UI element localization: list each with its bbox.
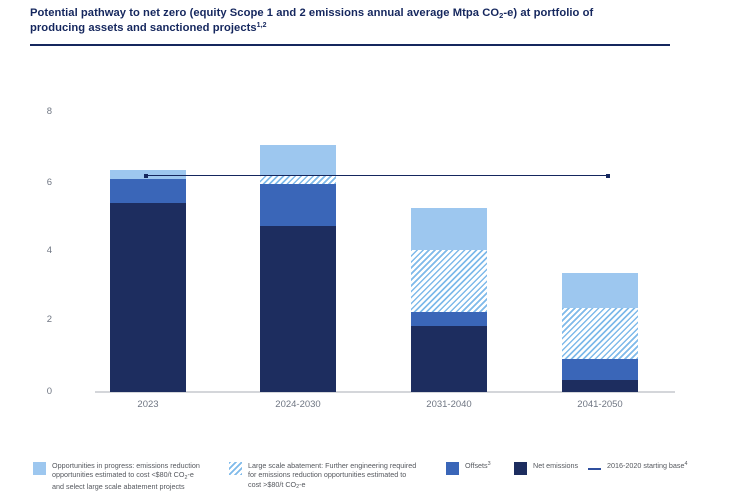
legend-label-opportunities-in-progress: Opportunities in progress: emissions red… <box>52 461 200 491</box>
legend-item-net-emissions[interactable]: Net emissions <box>514 461 578 475</box>
segment-large-scale-abatement <box>411 250 487 311</box>
legend-item-offsets[interactable]: Offsets3 <box>446 461 491 475</box>
x-axis-label-2031-2040: 2031-2040 <box>379 399 519 410</box>
legend-co2-subscript: 2 <box>296 484 299 490</box>
x-axis-label-2023: 2023 <box>78 399 218 410</box>
legend-line-1: Large scale abatement: Further engineeri… <box>248 461 416 470</box>
segment-net-emissions <box>411 326 487 393</box>
legend-item-large-scale-abatement[interactable]: Large scale abatement: Further engineeri… <box>229 461 434 491</box>
segment-net-emissions <box>110 203 186 392</box>
segment-offsets <box>411 312 487 326</box>
reference-line-left-marker <box>144 174 148 178</box>
y-axis-tick-8: 8 <box>30 107 52 117</box>
y-axis-tick-6: 6 <box>30 178 52 188</box>
legend-line-2b: -e <box>187 470 193 479</box>
legend-label-starting-base: 2016-2020 starting base4 <box>607 461 688 472</box>
segment-opportunities <box>411 208 487 250</box>
legend-swatch-hatched-icon <box>229 462 242 475</box>
chart-legend: Opportunities in progress: emissions red… <box>0 455 729 499</box>
bar-2024-2030[interactable] <box>260 145 336 392</box>
legend-line-2: for emissions reduction opportunities es… <box>248 470 406 479</box>
segment-offsets <box>562 359 638 380</box>
segment-large-scale-abatement <box>562 308 638 359</box>
legend-swatch-line-icon <box>588 462 601 475</box>
bar-2041-2050[interactable] <box>562 273 638 392</box>
reference-line-right-marker <box>606 174 610 178</box>
y-axis-tick-4: 4 <box>30 246 52 256</box>
segment-offsets <box>110 179 186 204</box>
legend-item-opportunities-in-progress[interactable]: Opportunities in progress: emissions red… <box>33 461 223 491</box>
segment-net-emissions <box>562 380 638 392</box>
y-axis-tick-2: 2 <box>30 315 52 325</box>
legend-line-3: and select large scale abatement project… <box>52 482 185 491</box>
legend-label-large-scale-abatement: Large scale abatement: Further engineeri… <box>248 461 416 491</box>
legend-swatch-light-blue-icon <box>33 462 46 475</box>
segment-opportunities <box>260 145 336 175</box>
legend-label-offsets: Offsets3 <box>465 461 491 472</box>
y-axis-tick-0: 0 <box>30 387 52 397</box>
legend-offsets-footnote-marker: 3 <box>488 461 491 467</box>
legend-item-starting-base[interactable]: 2016-2020 starting base4 <box>588 461 688 475</box>
legend-swatch-medium-blue-icon <box>446 462 459 475</box>
segment-net-emissions <box>260 226 336 392</box>
x-axis-label-2024-2030: 2024-2030 <box>228 399 368 410</box>
legend-offsets-text: Offsets <box>465 461 488 470</box>
legend-line-3b: -e <box>299 480 305 489</box>
chart-plot-area: 8 6 4 2 0 2023 2024-2030 2031-2040 2041-… <box>0 0 729 420</box>
x-axis-label-2041-2050: 2041-2050 <box>530 399 670 410</box>
legend-line-2a: opportunities estimated to cost <$80/t C… <box>52 470 184 479</box>
legend-line-1: Opportunities in progress: emissions red… <box>52 461 200 470</box>
bar-2031-2040[interactable] <box>411 208 487 392</box>
segment-opportunities <box>562 273 638 308</box>
chart-page: Potential pathway to net zero (equity Sc… <box>0 0 729 499</box>
segment-offsets <box>260 184 336 226</box>
legend-label-net-emissions: Net emissions <box>533 461 578 470</box>
bar-2023[interactable] <box>110 170 186 392</box>
legend-line-3a: cost >$80/t CO <box>248 480 296 489</box>
legend-starting-base-text: 2016-2020 starting base <box>607 461 685 470</box>
legend-starting-base-footnote-marker: 4 <box>685 461 688 467</box>
reference-line-2016-2020-base <box>145 175 609 176</box>
legend-swatch-navy-icon <box>514 462 527 475</box>
